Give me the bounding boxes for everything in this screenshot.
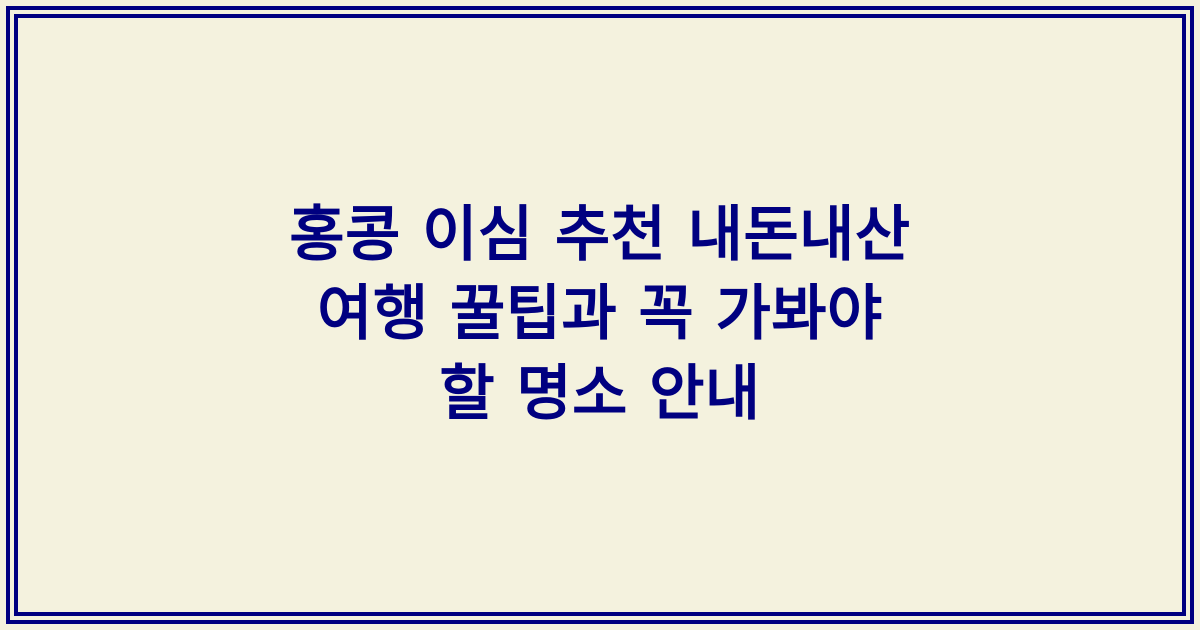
title-content-area: 홍콩 이심 추천 내돈내산 여행 꿀팁과 꼭 가봐야 할 명소 안내 bbox=[0, 0, 1200, 630]
page-title: 홍콩 이심 추천 내돈내산 여행 꿀팁과 꼭 가봐야 할 명소 안내 bbox=[280, 196, 920, 434]
title-card: 홍콩 이심 추천 내돈내산 여행 꿀팁과 꼭 가봐야 할 명소 안내 bbox=[0, 0, 1200, 630]
